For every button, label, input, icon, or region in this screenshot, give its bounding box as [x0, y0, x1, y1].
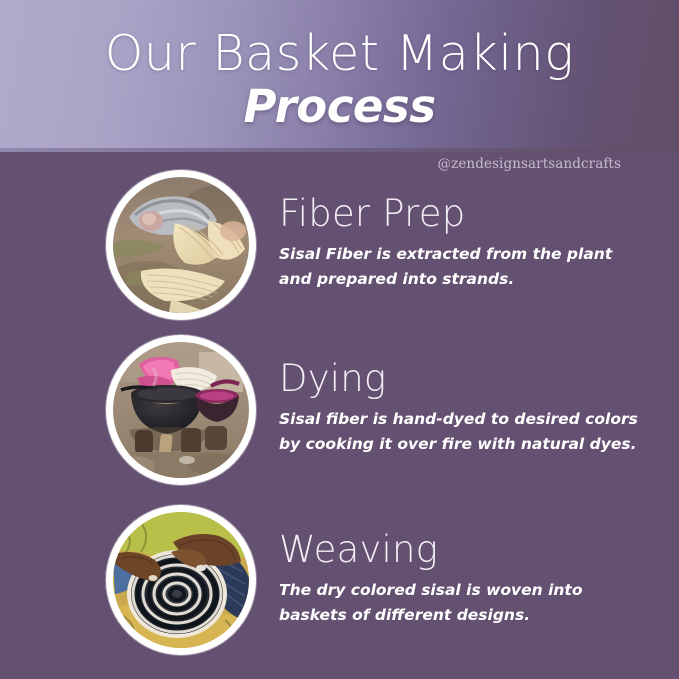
step-image-ring-1: [106, 170, 256, 320]
step-photo-weaving: [113, 512, 249, 648]
step-desc-line-1: Sisal fiber is hand-dyed to desired colo…: [279, 407, 649, 432]
step-desc-line-2: baskets of different designs.: [279, 603, 649, 628]
fiber-prep-illustration: [113, 177, 249, 313]
step-description-dying: Sisal fiber is hand-dyed to desired colo…: [279, 407, 649, 457]
process-step-fiber-prep: Fiber Prep Sisal Fiber is extracted from…: [0, 168, 679, 320]
page-title-line-1: Our Basket Making: [0, 26, 679, 82]
step-title-weaving: Weaving: [279, 528, 649, 572]
step-desc-line-1: Sisal Fiber is extracted from the plant: [279, 242, 649, 267]
step-text-block-2: Dying Sisal fiber is hand-dyed to desire…: [279, 333, 649, 457]
page-title-line-2: Process: [0, 80, 679, 134]
process-step-dying: Dying Sisal fiber is hand-dyed to desire…: [0, 333, 679, 485]
weaving-illustration: [113, 512, 249, 648]
step-title-dying: Dying: [279, 357, 649, 401]
poster-canvas: Our Basket Making Process @zendesignsart…: [0, 0, 679, 679]
step-text-block-3: Weaving The dry colored sisal is woven i…: [279, 503, 649, 628]
step-image-ring-3: [106, 505, 256, 655]
step-photo-fiber-prep: [113, 177, 249, 313]
dying-illustration: [113, 342, 249, 478]
process-step-weaving: Weaving The dry colored sisal is woven i…: [0, 503, 679, 655]
step-desc-line-2: and prepared into strands.: [279, 267, 649, 292]
step-desc-line-2: by cooking it over fire with natural dye…: [279, 432, 649, 457]
step-photo-dying: [113, 342, 249, 478]
step-image-ring-2: [106, 335, 256, 485]
step-desc-line-1: The dry colored sisal is woven into: [279, 578, 649, 603]
step-description-fiber-prep: Sisal Fiber is extracted from the plant …: [279, 242, 649, 292]
step-description-weaving: The dry colored sisal is woven into bask…: [279, 578, 649, 628]
step-text-block-1: Fiber Prep Sisal Fiber is extracted from…: [279, 168, 649, 292]
header-banner: Our Basket Making Process: [0, 0, 679, 152]
step-title-fiber-prep: Fiber Prep: [279, 192, 649, 236]
